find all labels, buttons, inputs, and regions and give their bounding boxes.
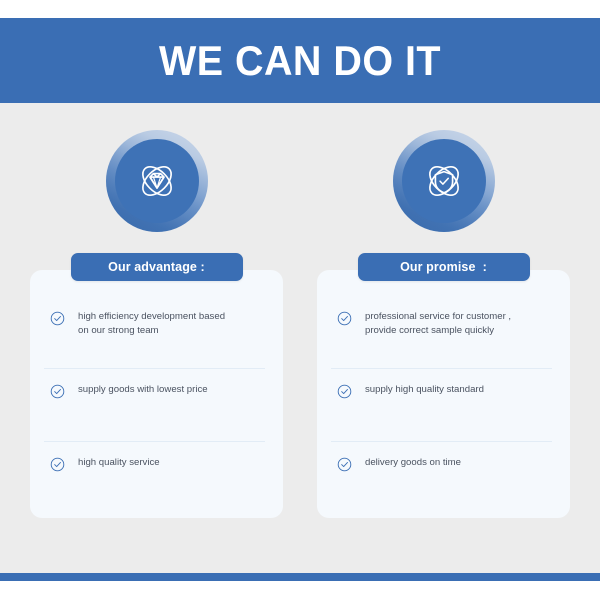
shield-check-atom-icon xyxy=(402,139,486,223)
list-item: professional service for customer , prov… xyxy=(331,296,552,369)
header-banner: WE CAN DO IT xyxy=(0,18,600,103)
card-advantage: high efficiency development based on our… xyxy=(30,270,283,518)
advantage-list: high efficiency development based on our… xyxy=(44,296,265,514)
page-title: WE CAN DO IT xyxy=(159,40,441,82)
pill-promise: Our promise : xyxy=(358,253,530,281)
card-promise: professional service for customer , prov… xyxy=(317,270,570,518)
diamond-atom-icon xyxy=(115,139,199,223)
footer-white-space xyxy=(0,581,600,600)
column-advantage: Our advantage : high efficiency developm… xyxy=(30,103,283,543)
list-item: supply goods with lowest price xyxy=(44,369,265,442)
badge-promise xyxy=(393,130,495,232)
promise-list: professional service for customer , prov… xyxy=(331,296,552,514)
list-item-text: supply goods with lowest price xyxy=(78,383,208,397)
column-promise: Our promise : professional service for c… xyxy=(317,103,570,543)
list-item-text: delivery goods on time xyxy=(365,456,461,470)
badge-advantage xyxy=(106,130,208,232)
check-circle-icon xyxy=(337,311,352,326)
list-item-text: high quality service xyxy=(78,456,160,470)
list-item: supply high quality standard xyxy=(331,369,552,442)
check-circle-icon xyxy=(50,457,65,472)
list-item: high quality service xyxy=(44,442,265,514)
infographic-poster: WE CAN DO IT Our advantage : xyxy=(0,0,600,600)
list-item: high efficiency development based on our… xyxy=(44,296,265,369)
check-circle-icon xyxy=(50,311,65,326)
list-item-text: high efficiency development based on our… xyxy=(78,310,225,337)
check-circle-icon xyxy=(50,384,65,399)
check-circle-icon xyxy=(337,457,352,472)
pill-advantage: Our advantage : xyxy=(71,253,243,281)
list-item-text: professional service for customer , prov… xyxy=(365,310,511,337)
footer-accent-bar xyxy=(0,573,600,581)
list-item: delivery goods on time xyxy=(331,442,552,514)
pill-advantage-label: Our advantage : xyxy=(108,261,205,274)
check-circle-icon xyxy=(337,384,352,399)
pill-promise-label: Our promise : xyxy=(400,261,487,274)
list-item-text: supply high quality standard xyxy=(365,383,484,397)
